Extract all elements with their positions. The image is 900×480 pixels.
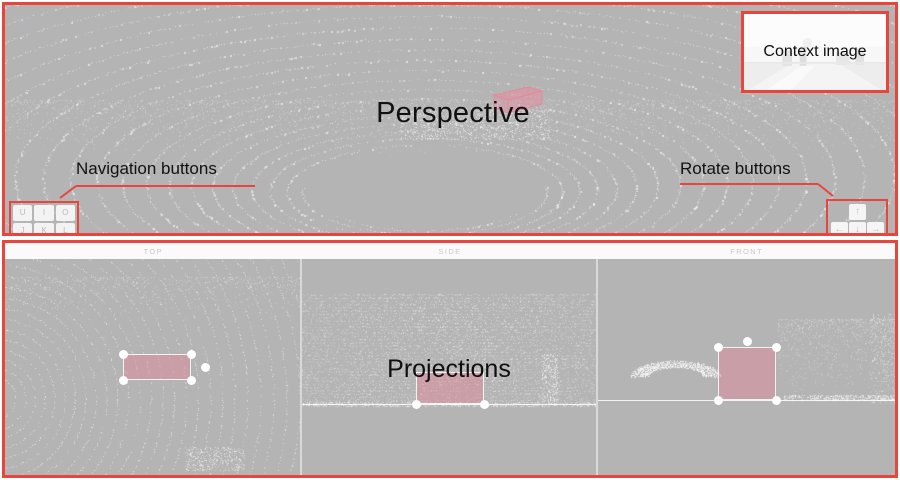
top-view-bounding-box[interactable]: [123, 354, 191, 380]
top-view-handle-top-right[interactable]: [187, 350, 196, 359]
projections-panel[interactable]: TOP SIDE FRONT P: [2, 240, 898, 478]
navigation-buttons-annotation: Navigation buttons: [76, 160, 217, 177]
projection-view-front[interactable]: [598, 259, 895, 478]
navigation-buttons-annotation-label: Navigation buttons: [76, 160, 217, 177]
top-view-handle-heading[interactable]: [201, 363, 210, 372]
annotation-leader-lines: [0, 0, 900, 240]
side-view-handle-bottom-right[interactable]: [480, 400, 489, 409]
projection-header-front: FRONT: [598, 243, 895, 259]
projection-header-side: SIDE: [302, 243, 599, 259]
top-view-handle-bottom-right[interactable]: [187, 376, 196, 385]
lidar-annotation-tool: Perspective Context image U I: [0, 0, 900, 480]
projection-view-top[interactable]: [5, 259, 300, 478]
projection-view-side[interactable]: Projections: [302, 259, 597, 478]
side-view-ground-line: [302, 404, 597, 405]
front-view-bounding-box[interactable]: [718, 347, 776, 400]
side-view-handle-bottom-left[interactable]: [412, 400, 421, 409]
projection-header-top: TOP: [5, 243, 302, 259]
rotate-buttons-annotation: Rotate buttons: [680, 160, 791, 177]
projection-headers: TOP SIDE FRONT: [5, 243, 895, 259]
top-view-handle-bottom-left[interactable]: [119, 376, 128, 385]
front-view-ground-line: [598, 400, 895, 401]
projections-label: Projections: [302, 355, 597, 384]
rotate-buttons-annotation-label: Rotate buttons: [680, 160, 791, 177]
projection-views: Projections: [5, 259, 895, 478]
top-view-handle-top-left[interactable]: [119, 350, 128, 359]
